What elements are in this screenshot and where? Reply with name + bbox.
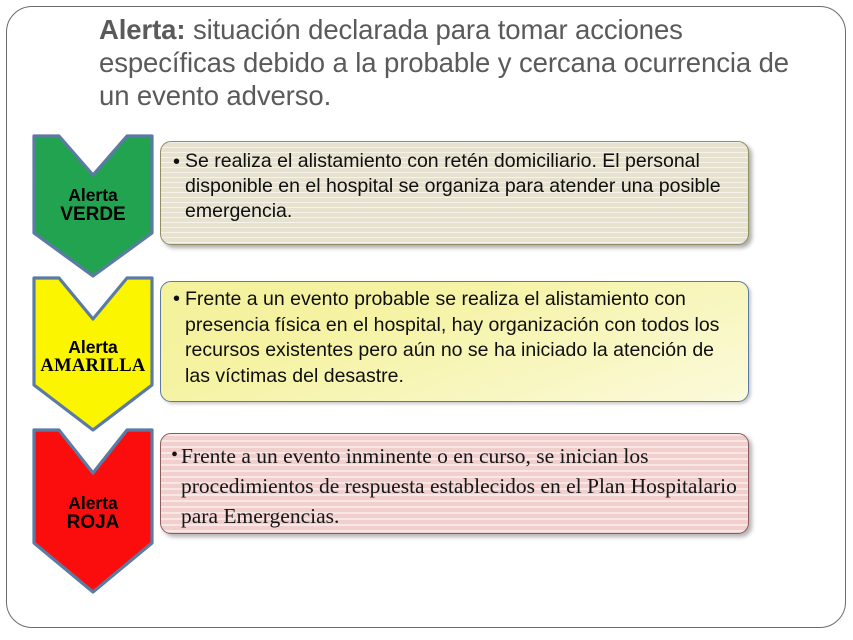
bullet-icon: • xyxy=(171,445,178,465)
callout-amarilla-text: Frente a un evento probable se realiza e… xyxy=(185,287,738,389)
chevron-amarilla: Alerta AMARILLA xyxy=(31,275,155,433)
callout-roja-text: Frente a un evento inminente o en curso,… xyxy=(181,441,738,531)
chevron-roja: Alerta ROJA xyxy=(31,427,155,595)
callout-verde-text: Se realiza el alistamiento con retén dom… xyxy=(185,149,738,224)
page-title-lead: Alerta: xyxy=(99,14,185,45)
chevron-verde: Alerta VERDE xyxy=(31,133,155,279)
callout-verde: • Se realiza el alistamiento con retén d… xyxy=(160,141,749,245)
chevron-amarilla-shape xyxy=(31,275,155,433)
alert-level-row-roja: Alerta ROJA • Frente a un evento inminen… xyxy=(7,427,853,595)
bullet-icon: • xyxy=(173,152,180,172)
alert-level-row-amarilla: Alerta AMARILLA • Frente a un evento pro… xyxy=(7,275,853,433)
chevron-verde-shape xyxy=(31,133,155,279)
callout-amarilla: • Frente a un evento probable se realiza… xyxy=(160,281,749,402)
page-title-rest: situación declarada para tomar acciones … xyxy=(99,14,789,111)
page-title: Alerta: situación declarada para tomar a… xyxy=(99,13,799,112)
alert-level-row-verde: Alerta VERDE • Se realiza el alistamient… xyxy=(7,133,853,279)
slide-frame: Alerta: situación declarada para tomar a… xyxy=(6,6,846,628)
bullet-icon: • xyxy=(173,289,180,309)
chevron-roja-shape xyxy=(31,427,155,595)
callout-roja: • Frente a un evento inminente o en curs… xyxy=(160,433,749,534)
